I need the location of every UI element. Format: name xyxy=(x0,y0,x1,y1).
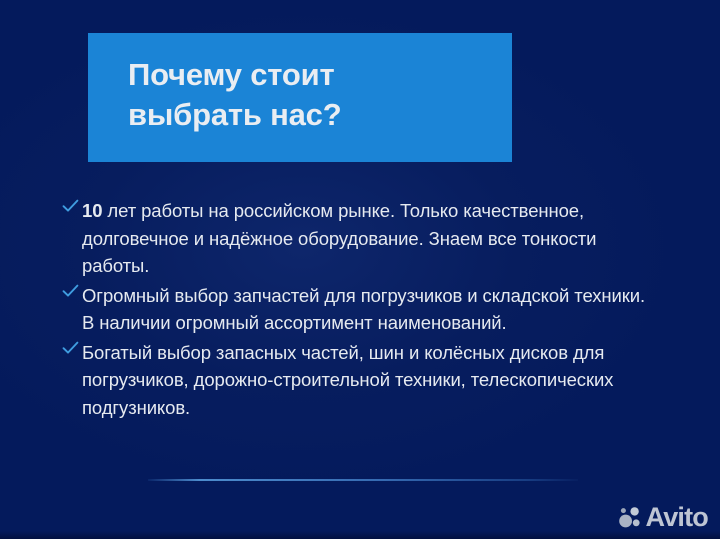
list-item-body: Огромный выбор запчастей для погрузчиков… xyxy=(82,285,645,334)
divider xyxy=(148,479,578,481)
list-item-text: 10 лет работы на российском рынке. Тольк… xyxy=(82,197,660,280)
check-icon xyxy=(62,284,82,310)
list-item-body: лет работы на российском рынке. Только к… xyxy=(82,200,596,276)
list-item: Огромный выбор запчастей для погрузчиков… xyxy=(62,282,672,337)
check-icon xyxy=(62,341,82,367)
avito-wordmark: Avito xyxy=(646,504,709,531)
page-title: Почему стоит выбрать нас? xyxy=(128,55,484,134)
slide-content: Почему стоит выбрать нас? 10 лет работы … xyxy=(0,0,720,539)
list-item: Богатый выбор запасных частей, шин и кол… xyxy=(62,339,672,422)
benefits-list: 10 лет работы на российском рынке. Тольк… xyxy=(62,197,672,423)
list-item-body: Богатый выбор запасных частей, шин и кол… xyxy=(82,342,613,418)
avito-dots-icon xyxy=(617,505,643,531)
avito-watermark: Avito xyxy=(617,504,709,531)
list-item-text: Огромный выбор запчастей для погрузчиков… xyxy=(82,282,660,337)
list-item: 10 лет работы на российском рынке. Тольк… xyxy=(62,197,672,280)
list-item-text: Богатый выбор запасных частей, шин и кол… xyxy=(82,339,660,422)
check-icon xyxy=(62,199,82,225)
title-banner: Почему стоит выбрать нас? xyxy=(88,33,512,162)
slide-canvas: Почему стоит выбрать нас? 10 лет работы … xyxy=(0,0,720,539)
list-item-lead: 10 xyxy=(82,200,102,221)
